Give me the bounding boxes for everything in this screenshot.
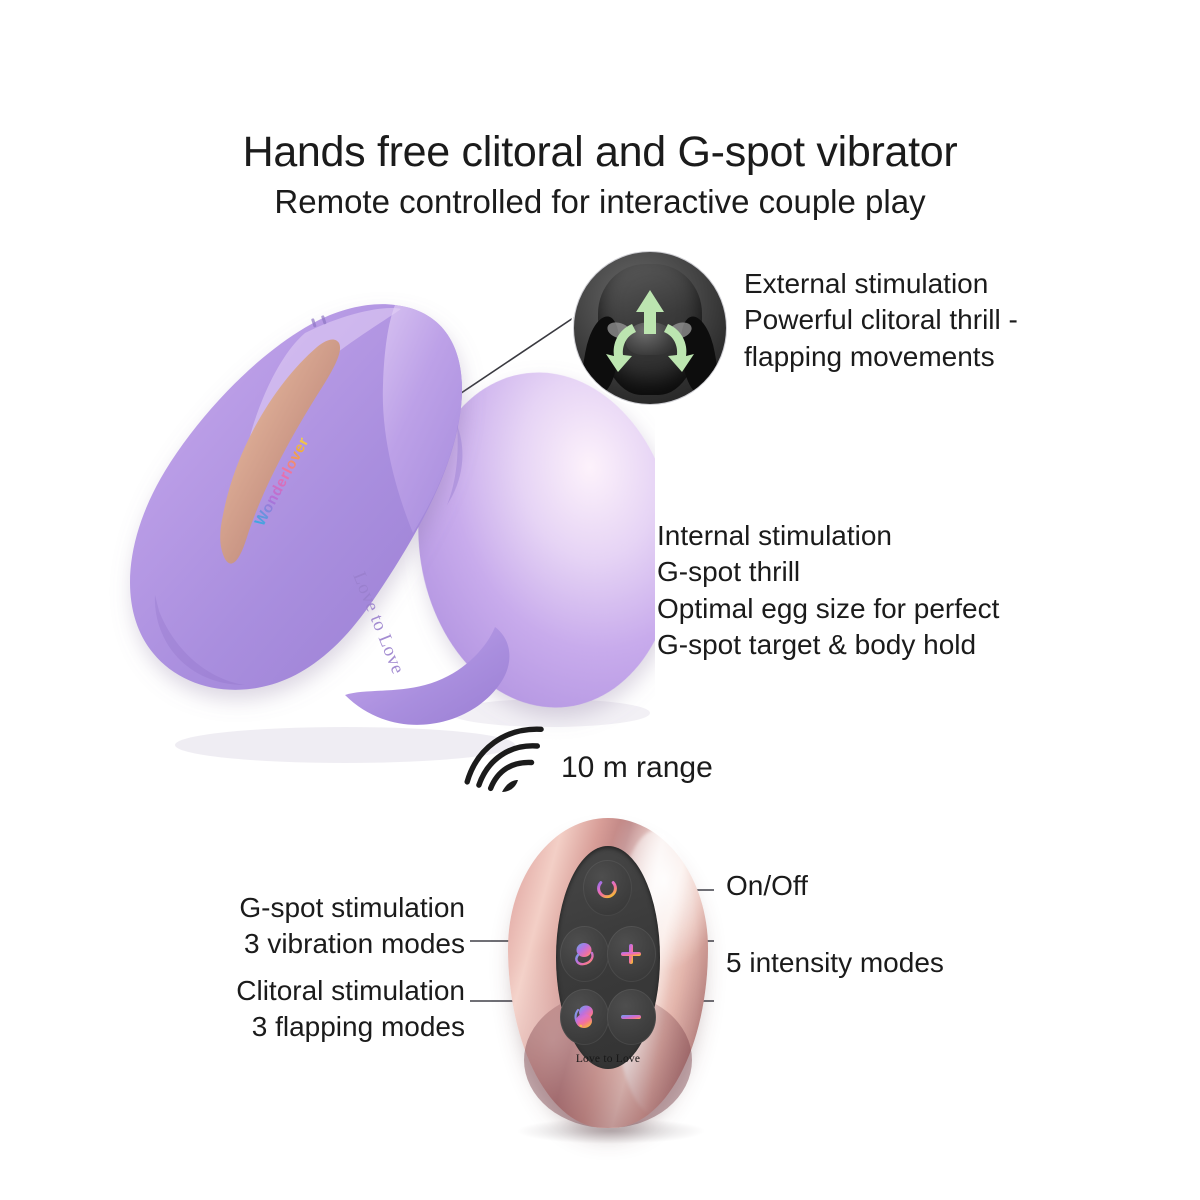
remote-control[interactable]: Love to Love <box>508 818 708 1128</box>
external-stimulation-magnifier <box>573 251 727 405</box>
internal-stimulation-label: Internal stimulation G-spot thrill Optim… <box>657 518 999 664</box>
gspot-mode-button[interactable] <box>560 926 609 982</box>
wifi-signal-icon <box>462 718 554 796</box>
intensity-up-button[interactable] <box>607 926 656 982</box>
external-stimulation-label: External stimulation Powerful clitoral t… <box>744 266 1018 375</box>
clitoral-flapping-icon <box>571 1004 599 1030</box>
remote-brand-label: Love to Love <box>556 1053 660 1065</box>
intensity-down-button[interactable] <box>607 989 656 1045</box>
infographic-canvas: Hands free clitoral and G-spot vibrator … <box>0 0 1200 1200</box>
onoff-label: On/Off <box>726 868 808 904</box>
remote-face-panel: Love to Love <box>556 846 660 1069</box>
page-subtitle: Remote controlled for interactive couple… <box>0 183 1200 221</box>
product-illustration: Wonderlover Love to Love <box>95 275 655 775</box>
arrow-down-left-icon <box>606 324 636 372</box>
arrow-down-right-icon <box>664 324 694 372</box>
power-button[interactable] <box>583 860 632 916</box>
device-svg: Wonderlover Love to Love <box>95 275 655 775</box>
arrow-up-icon <box>636 290 664 334</box>
main-body <box>130 304 462 690</box>
plus-icon <box>618 941 644 967</box>
minus-icon <box>618 1004 644 1030</box>
intensity-modes-label: 5 intensity modes <box>726 945 944 981</box>
flapping-arrows <box>574 252 726 404</box>
power-icon <box>594 875 620 901</box>
page-title: Hands free clitoral and G-spot vibrator <box>0 128 1200 176</box>
clitoral-mode-button[interactable] <box>560 989 609 1045</box>
clitoral-modes-label: Clitoral stimulation 3 flapping modes <box>236 973 465 1046</box>
signal-dot <box>502 780 518 792</box>
range-label: 10 m range <box>561 748 713 787</box>
gspot-modes-label: G-spot stimulation 3 vibration modes <box>239 890 465 963</box>
gspot-vibration-icon <box>571 941 599 967</box>
